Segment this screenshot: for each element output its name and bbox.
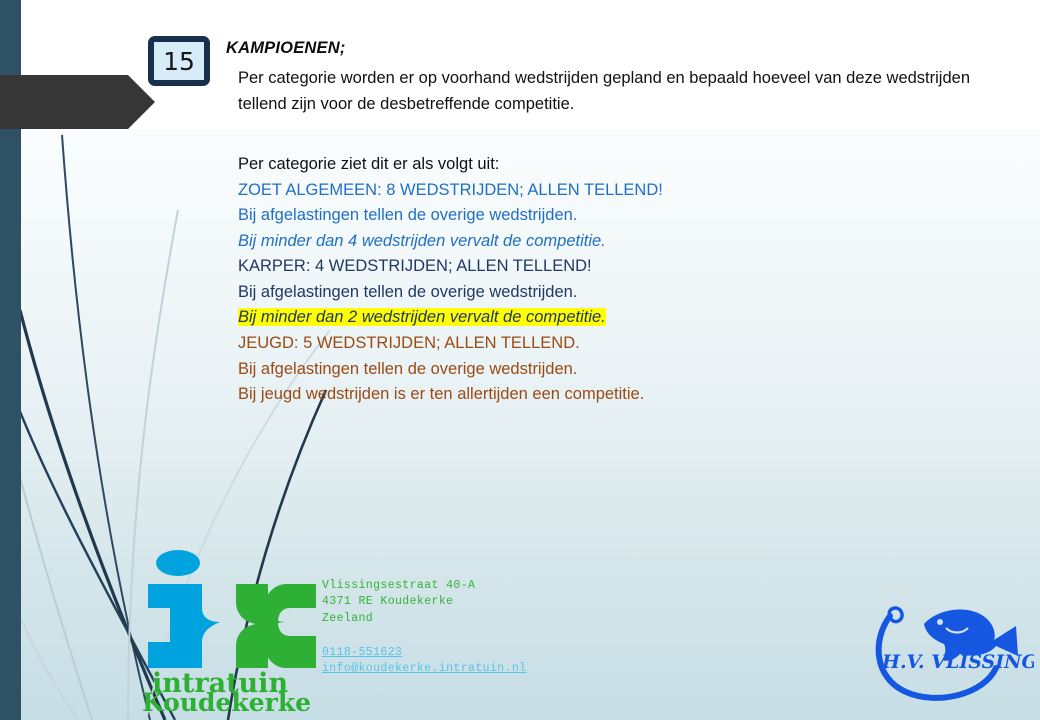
competition-rules-list: Per categorie ziet dit er als volgt uit:… bbox=[238, 152, 1016, 408]
list-item: KARPER: 4 WEDSTRIJDEN; ALLEN TELLEND! bbox=[238, 254, 1016, 280]
slide-content: KAMPIOENEN; Per categorie worden er op v… bbox=[226, 38, 1016, 408]
intro-paragraph: Per categorie worden er op voorhand weds… bbox=[238, 65, 1016, 118]
list-item: Bij jeugd wedstrijden is er ten allertij… bbox=[238, 382, 1016, 408]
intratuin-logo: intratuin Koudekerke bbox=[140, 546, 325, 712]
list-item: Bij minder dan 4 wedstrijden vervalt de … bbox=[238, 229, 1016, 255]
slide-number-value: 15 bbox=[154, 42, 204, 80]
list-item: JEUGD: 5 WEDSTRIJDEN; ALLEN TELLEND. bbox=[238, 331, 1016, 357]
address-street: Vlissingsestraat 40-A bbox=[322, 578, 475, 594]
list-item: Per categorie ziet dit er als volgt uit: bbox=[238, 152, 1016, 178]
email-link[interactable]: info@koudekerke.intratuin.nl bbox=[322, 661, 526, 677]
list-item-highlighted: Bij minder dan 2 wedstrijden vervalt de … bbox=[238, 305, 1016, 331]
slide-number-badge: 15 bbox=[148, 36, 210, 86]
arrow-banner bbox=[0, 75, 155, 129]
list-item: Bij afgelastingen tellen de overige weds… bbox=[238, 203, 1016, 229]
slide-canvas: 15 KAMPIOENEN; Per categorie worden er o… bbox=[0, 0, 1040, 720]
list-item: Bij afgelastingen tellen de overige weds… bbox=[238, 357, 1016, 383]
page-title: KAMPIOENEN; bbox=[226, 38, 1016, 59]
intratuin-address: Vlissingsestraat 40-A 4371 RE Koudekerke… bbox=[322, 578, 475, 627]
hv-vlissingen-logo: H.V. VLISSINGEN bbox=[866, 594, 1034, 706]
address-postal-city: 4371 RE Koudekerke bbox=[322, 594, 475, 610]
list-item: ZOET ALGEMEEN: 8 WEDSTRIJDEN; ALLEN TELL… bbox=[238, 178, 1016, 204]
phone-link[interactable]: 0118-551623 bbox=[322, 645, 526, 661]
highlighted-rule-text: Bij minder dan 2 wedstrijden vervalt de … bbox=[238, 308, 606, 326]
intratuin-contact: 0118-551623 info@koudekerke.intratuin.nl bbox=[322, 645, 526, 678]
koudekerke-wordmark: Koudekerke bbox=[142, 688, 311, 712]
list-item: Bij afgelastingen tellen de overige weds… bbox=[238, 280, 1016, 306]
address-province: Zeeland bbox=[322, 611, 475, 627]
club-wordmark: H.V. VLISSINGEN bbox=[881, 651, 1034, 673]
